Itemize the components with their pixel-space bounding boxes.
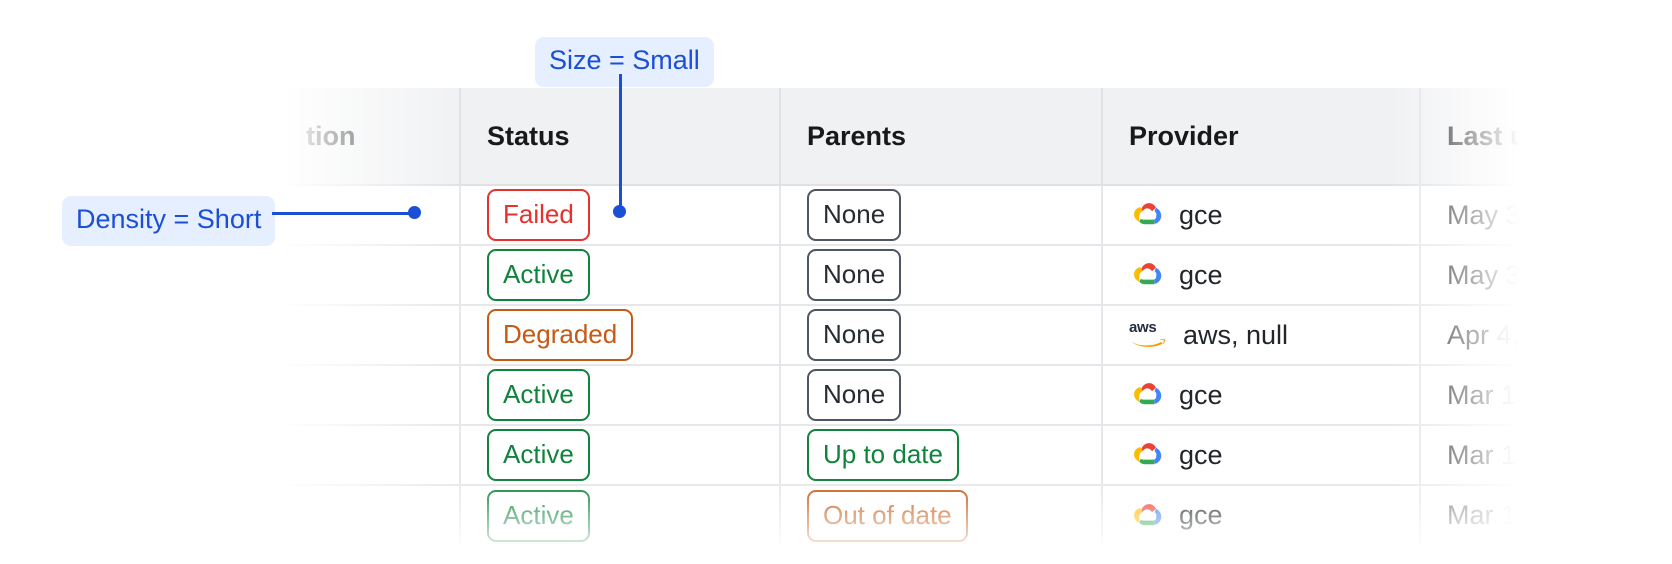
cell-status: Active xyxy=(460,365,780,425)
google-cloud-icon xyxy=(1129,440,1165,470)
parents-badge: None xyxy=(807,249,901,301)
provider-cell: gce xyxy=(1129,200,1419,231)
cell-description xyxy=(280,365,460,425)
google-cloud-icon xyxy=(1129,200,1165,230)
cell-last-updated: Mar 15 xyxy=(1420,365,1672,425)
parents-badge: None xyxy=(807,369,901,421)
provider-cell: gce xyxy=(1129,380,1419,411)
cell-parents: None xyxy=(780,365,1102,425)
cell-status: Degraded xyxy=(460,305,780,365)
cell-provider: gce xyxy=(1102,485,1420,545)
cell-parents: None xyxy=(780,305,1102,365)
table-row[interactable]: ActiveNonegceMar 15 xyxy=(280,365,1672,425)
cell-last-updated: May 3, xyxy=(1420,245,1672,305)
table-row[interactable]: ActiveUp to dategceMar 14 xyxy=(280,425,1672,485)
provider-label: gce xyxy=(1179,500,1223,531)
cell-parents: Up to date xyxy=(780,425,1102,485)
provider-label: gce xyxy=(1179,260,1223,291)
table-header: tion Status Parents Provider Last u xyxy=(280,88,1672,185)
last-updated-month: Apr xyxy=(1447,320,1489,350)
provider-cell: gce xyxy=(1129,260,1419,291)
table-row[interactable]: DegradedNoneawsaws, nullApr 4, xyxy=(280,305,1672,365)
last-updated-rest: 4, xyxy=(1497,320,1520,350)
cell-parents: Out of date xyxy=(780,485,1102,545)
provider-cell: gce xyxy=(1129,440,1419,471)
screenshot-stage: tion Status Parents Provider Last u Fail… xyxy=(0,0,1672,564)
provider-cell: gce xyxy=(1129,500,1419,531)
status-badge: Degraded xyxy=(487,309,633,361)
data-table-viewport[interactable]: tion Status Parents Provider Last u Fail… xyxy=(280,88,1672,564)
provider-label: gce xyxy=(1179,380,1223,411)
cell-provider: gce xyxy=(1102,245,1420,305)
table-row[interactable]: FailedNonegceMay 3, xyxy=(280,185,1672,245)
google-cloud-icon xyxy=(1129,380,1165,410)
provider-label: gce xyxy=(1179,200,1223,231)
annotation-density-leader-line xyxy=(272,212,414,215)
table-body: FailedNonegceMay 3,ActiveNonegceMay 3,De… xyxy=(280,185,1672,545)
last-updated-rest: 15 xyxy=(1501,380,1531,410)
cell-description xyxy=(280,425,460,485)
last-updated-rest: 3, xyxy=(1506,260,1529,290)
column-header-parents[interactable]: Parents xyxy=(780,88,1102,185)
google-cloud-icon xyxy=(1129,260,1165,290)
last-updated-month: Mar xyxy=(1447,380,1494,410)
last-updated-month: Mar xyxy=(1447,500,1494,530)
cell-status: Active xyxy=(460,485,780,545)
last-updated-month: Mar xyxy=(1447,440,1494,470)
cell-provider: gce xyxy=(1102,365,1420,425)
column-header-description[interactable]: tion xyxy=(280,88,460,185)
last-updated-rest: 3, xyxy=(1506,200,1529,230)
status-badge: Failed xyxy=(487,189,590,241)
cell-description xyxy=(280,485,460,545)
cell-description xyxy=(280,305,460,365)
cell-parents: None xyxy=(780,185,1102,245)
status-badge: Active xyxy=(487,369,590,421)
status-badge: Active xyxy=(487,429,590,481)
annotation-density-callout: Density = Short xyxy=(62,196,275,246)
cell-provider: awsaws, null xyxy=(1102,305,1420,365)
cell-status: Active xyxy=(460,425,780,485)
cell-last-updated: Mar 14 xyxy=(1420,425,1672,485)
parents-badge: Out of date xyxy=(807,490,968,542)
cell-status: Active xyxy=(460,245,780,305)
annotation-size-leader-line xyxy=(619,74,622,208)
parents-badge: Up to date xyxy=(807,429,959,481)
column-header-provider[interactable]: Provider xyxy=(1102,88,1420,185)
cell-provider: gce xyxy=(1102,185,1420,245)
last-updated-rest: 14 xyxy=(1501,500,1531,530)
cell-description xyxy=(280,185,460,245)
status-badge: Active xyxy=(487,249,590,301)
table-row[interactable]: ActiveOut of dategceMar 14 xyxy=(280,485,1672,545)
last-updated-rest: 14 xyxy=(1501,440,1531,470)
provider-cell: awsaws, null xyxy=(1129,320,1419,351)
table-row[interactable]: ActiveNonegceMay 3, xyxy=(280,245,1672,305)
aws-icon: aws xyxy=(1129,320,1169,350)
parents-badge: None xyxy=(807,309,901,361)
table-header-row: tion Status Parents Provider Last u xyxy=(280,88,1672,185)
resources-table: tion Status Parents Provider Last u Fail… xyxy=(280,88,1672,545)
status-badge: Active xyxy=(487,490,590,542)
cell-last-updated: May 3, xyxy=(1420,185,1672,245)
last-updated-month: May xyxy=(1447,200,1498,230)
cell-provider: gce xyxy=(1102,425,1420,485)
cell-last-updated: Mar 14 xyxy=(1420,485,1672,545)
annotation-size-leader-dot xyxy=(613,205,626,218)
google-cloud-icon xyxy=(1129,501,1165,531)
cell-parents: None xyxy=(780,245,1102,305)
annotation-size-callout: Size = Small xyxy=(535,37,714,87)
cell-description xyxy=(280,245,460,305)
parents-badge: None xyxy=(807,189,901,241)
cell-last-updated: Apr 4, xyxy=(1420,305,1672,365)
provider-label: gce xyxy=(1179,440,1223,471)
provider-label: aws, null xyxy=(1183,320,1288,351)
last-updated-month: May xyxy=(1447,260,1498,290)
annotation-density-leader-dot xyxy=(408,206,421,219)
column-header-last-updated[interactable]: Last u xyxy=(1420,88,1672,185)
